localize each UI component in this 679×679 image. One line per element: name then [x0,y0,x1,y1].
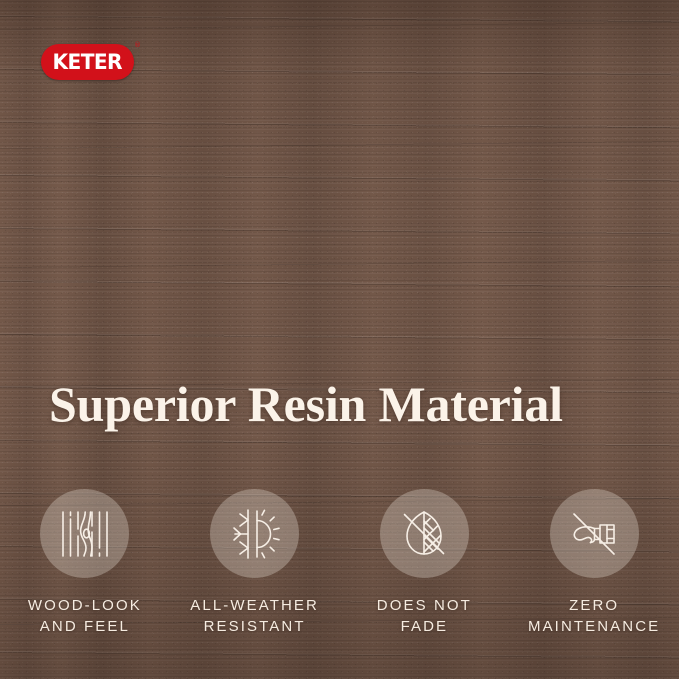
feature-item-does-not-fade: DOES NOT FADE [340,489,510,638]
feature-item-zero-maintenance: ZERO MAINTENANCE [509,489,679,638]
keter-logo: KETER ® [41,44,134,80]
feature-caption: ZERO MAINTENANCE [528,595,660,638]
feature-badge [40,489,129,578]
feature-badge [380,489,469,578]
snowflake-sun-icon [227,506,283,562]
feature-badge [550,489,639,578]
feature-caption: ALL-WEATHER RESISTANT [190,595,319,638]
product-feature-banner: KETER ® Superior Resin Material [0,0,679,679]
feature-item-wood-look: WOOD-LOOK AND FEEL [0,489,170,638]
registered-trademark-icon: ® [134,42,141,49]
leaf-no-fade-icon [396,506,452,562]
keter-logo-wordmark: KETER [53,52,123,73]
feature-list: WOOD-LOOK AND FEEL [0,489,679,638]
feature-item-all-weather: ALL-WEATHER RESISTANT [170,489,340,638]
feature-caption: DOES NOT FADE [377,595,472,638]
wood-grain-icon [57,506,113,562]
page-title: Superior Resin Material [49,378,629,430]
paintbrush-crossed-out-icon [566,506,622,562]
feature-caption: WOOD-LOOK AND FEEL [28,595,142,638]
feature-badge [210,489,299,578]
